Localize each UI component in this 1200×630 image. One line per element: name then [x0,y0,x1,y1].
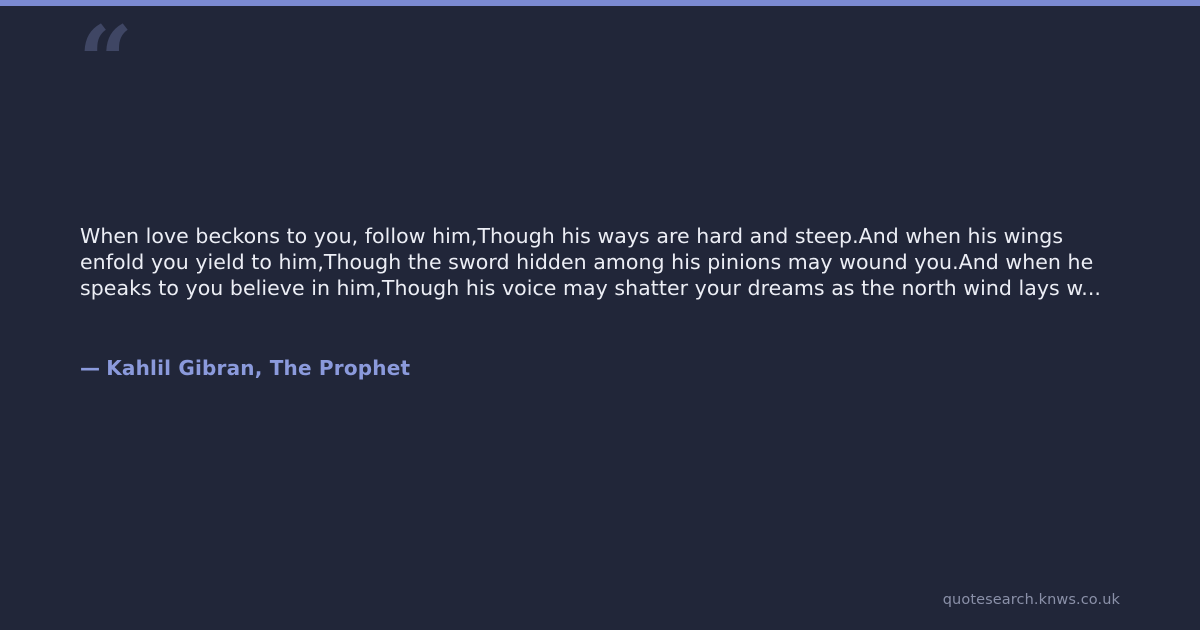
top-accent-bar [0,0,1200,6]
quote-card: “ When love beckons to you, follow him,T… [0,0,1200,630]
footer-site-url: quotesearch.knws.co.uk [943,592,1120,608]
attribution-dash: — [80,356,100,380]
quote-content: When love beckons to you, follow him,Tho… [80,224,1120,301]
attribution-label: Kahlil Gibran, The Prophet [106,356,410,380]
quote-mark-icon: “ [78,14,131,110]
quote-text: When love beckons to you, follow him,Tho… [80,224,1110,301]
quote-attribution: —Kahlil Gibran, The Prophet [80,356,410,380]
